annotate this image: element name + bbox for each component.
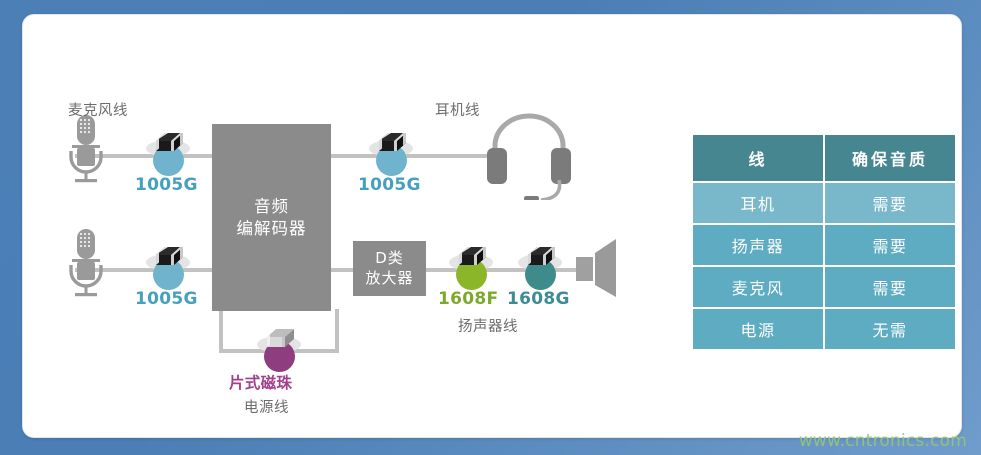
table-header-line: 线	[693, 135, 823, 181]
label-mic-line: 麦克风线	[68, 99, 128, 120]
smd-chip-icon	[149, 241, 189, 273]
component-label-ferrite-bead: 片式磁珠	[229, 371, 292, 393]
table-header-row: 线 确保音质	[693, 135, 955, 181]
component-ferrite-bead	[253, 323, 305, 375]
diagram-canvas: 音频 编解码器 D类 放大器	[0, 0, 981, 455]
block-audio-codec: 音频 编解码器	[212, 124, 331, 311]
component-1005g-mic-top	[142, 127, 194, 179]
block-audio-codec-line2: 编解码器	[237, 218, 307, 240]
smd-chip-icon	[452, 241, 492, 273]
microphone-icon	[63, 227, 109, 301]
table-row: 电源 无需	[693, 309, 955, 349]
table-cell-line: 电源	[693, 309, 823, 349]
component-label-1608f: 1608F	[438, 289, 498, 309]
block-class-d-line2: 放大器	[365, 269, 413, 289]
microphone-icon	[63, 113, 109, 187]
wire-power-left	[219, 309, 223, 353]
table-row: 扬声器 需要	[693, 225, 955, 265]
component-1005g-headphone	[365, 127, 417, 179]
table-cell-quality: 无需	[825, 309, 955, 349]
table-cell-quality: 需要	[825, 183, 955, 223]
block-class-d-line1: D类	[365, 249, 413, 269]
watermark-text: www.cntronics.com	[799, 431, 967, 451]
white-content-card: 音频 编解码器 D类 放大器	[22, 14, 962, 438]
ferrite-bead-icon	[260, 323, 300, 355]
table-cell-line: 扬声器	[693, 225, 823, 265]
table-row: 耳机 需要	[693, 183, 955, 223]
label-headphone-line: 耳机线	[435, 99, 480, 120]
smd-chip-icon	[521, 241, 561, 273]
component-label-1005g-mic-bottom: 1005G	[135, 289, 198, 309]
component-label-1005g-headphone: 1005G	[358, 175, 421, 195]
label-speaker-line: 扬声器线	[458, 315, 518, 336]
smd-chip-icon	[149, 127, 189, 159]
spec-table: 线 确保音质 耳机 需要 扬声器 需要 麦克风 需要 电源 无需	[691, 133, 957, 351]
table-cell-quality: 需要	[825, 225, 955, 265]
component-1608g-speaker	[514, 241, 566, 293]
component-1005g-mic-bottom	[142, 241, 194, 293]
component-1608f-speaker	[445, 241, 497, 293]
headset-icon	[483, 110, 575, 200]
table-cell-line: 麦克风	[693, 267, 823, 307]
component-label-1005g-mic-top: 1005G	[135, 175, 198, 195]
component-label-1608g: 1608G	[507, 289, 570, 309]
table-cell-quality: 需要	[825, 267, 955, 307]
table-row: 麦克风 需要	[693, 267, 955, 307]
table-header-quality: 确保音质	[825, 135, 955, 181]
table-cell-line: 耳机	[693, 183, 823, 223]
block-audio-codec-line1: 音频	[237, 196, 307, 218]
wire-power-right	[335, 309, 339, 353]
speaker-icon	[576, 237, 618, 299]
smd-chip-icon	[372, 127, 412, 159]
label-power-line: 电源线	[244, 396, 289, 417]
block-class-d-amplifier: D类 放大器	[353, 241, 426, 296]
